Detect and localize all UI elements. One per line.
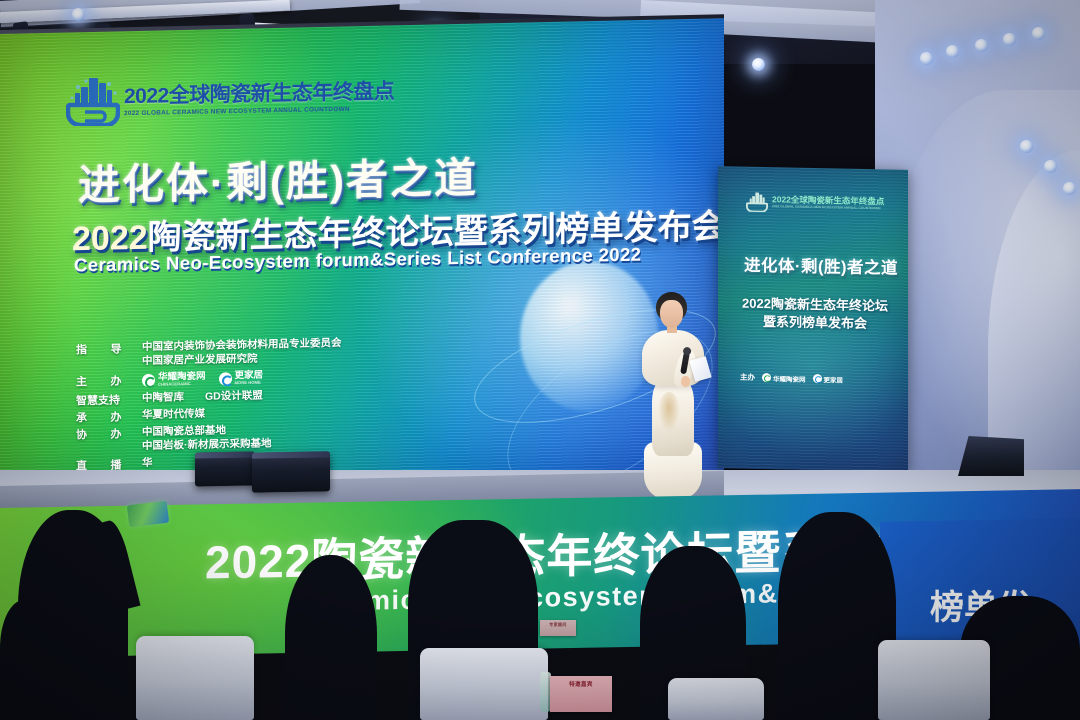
spotlight: [1032, 27, 1045, 40]
name-card: 专家顾问: [540, 620, 576, 636]
led-logo-title-cn: 2022全球陶瓷新生态年终盘点: [124, 82, 354, 108]
spotlight: [1044, 160, 1057, 173]
spotlight: [1003, 33, 1016, 46]
conference-photo-scene: 2022全球陶瓷新生态年终盘点 2022 GLOBAL CERAMICS NEW…: [0, 0, 1080, 720]
side-screen-subline-1: 2022陶瓷新生态年终论坛: [738, 295, 892, 316]
sponsor-name-cn: 华耀陶瓷网: [158, 372, 206, 382]
spotlight: [1063, 182, 1076, 195]
sponsor-name-cn: 更家居: [235, 371, 264, 381]
sponsor-logos: 华耀陶瓷网 CHINACERAMIC 更家居 MORE HOME: [142, 371, 263, 388]
credit-row: 协 办 中国陶瓷总部基地 中国岩板·新材展示采购基地: [76, 420, 416, 456]
host-gown-trim: [658, 392, 680, 432]
credit-label: 协 办: [76, 425, 142, 442]
host-hand: [681, 376, 690, 387]
sponsor-mark-icon: [219, 372, 232, 385]
sponsor-logo: 更家居 MORE HOME: [219, 371, 264, 387]
side-screen-logo-title-en: 2022 GLOBAL CERAMICS NEW ECOSYSTEM ANNUA…: [772, 205, 884, 210]
credit-value: 中陶智库 GD设计联盟: [142, 389, 263, 406]
wedge-monitor-speaker: [958, 436, 1024, 476]
stage-monitor-speaker: [252, 451, 330, 492]
sponsor-mark-icon: [142, 374, 155, 387]
audience-chair: [878, 640, 990, 720]
credit-label: 承 办: [76, 408, 142, 425]
spotlight: [975, 39, 988, 52]
audience-chair: [420, 648, 548, 720]
sponsor-name-cn: 华耀陶瓷网: [773, 373, 806, 384]
sponsor-mark-icon: [762, 373, 771, 382]
sponsor-mark-icon: [813, 374, 822, 383]
credit-values: 中国陶瓷总部基地 中国岩板·新材展示采购基地: [142, 422, 272, 454]
sponsor-logo: 华耀陶瓷网: [762, 373, 806, 384]
credit-label: 指 导: [76, 340, 142, 357]
sponsor-name-en: CHINACERAMIC: [158, 382, 206, 387]
credit-value: 华: [142, 456, 153, 471]
sponsor-name-cn: 更家居: [824, 374, 844, 384]
side-screen-sponsor-label: 主办: [740, 372, 755, 383]
credit-row: 指 导 中国室内装饰协会装饰材料用品专业委员会 中国家居产业发展研究院: [76, 335, 416, 371]
event-host: [626, 292, 718, 498]
audience-chair: [668, 678, 764, 720]
name-card: 特邀嘉宾: [550, 676, 612, 712]
sponsor-logo: 华耀陶瓷网 CHINACERAMIC: [142, 372, 206, 388]
host-face: [660, 300, 683, 328]
spotlight: [752, 58, 765, 71]
audience-chair: [136, 636, 254, 720]
led-logo-title: 2022全球陶瓷新生态年终盘点 2022 GLOBAL CERAMICS NEW…: [124, 82, 354, 117]
audience-silhouette: [0, 600, 60, 720]
spotlight: [72, 8, 85, 21]
credit-label: 主 办: [76, 372, 142, 389]
credit-values: 中国室内装饰协会装饰材料用品专业委员会 中国家居产业发展研究院: [142, 336, 342, 369]
side-screen-headline: 进化体·剩(胜)者之道: [744, 252, 886, 279]
building-skyline-logo: [66, 74, 120, 126]
building-skyline-logo: [746, 191, 768, 212]
side-screen-subline-2: 暨系列榜单发布会: [738, 313, 892, 334]
audience-silhouette: [285, 555, 377, 720]
spotlight: [946, 45, 959, 58]
name-card-text: 特邀嘉宾: [550, 680, 612, 688]
side-led-screen: 2022全球陶瓷新生态年终盘点 2022 GLOBAL CERAMICS NEW…: [718, 166, 908, 472]
credit-value: 中国家居产业发展研究院: [142, 351, 342, 369]
name-card-text: 专家顾问: [540, 622, 576, 628]
spotlight: [1020, 140, 1033, 153]
led-headline: 进化体·剩(胜)者之道: [78, 144, 478, 213]
sponsor-name-en: MORE HOME: [235, 381, 264, 386]
spotlight: [920, 52, 933, 65]
sponsor-logo: 更家居: [813, 373, 844, 384]
credit-label: 智慧支持: [76, 391, 142, 408]
side-screen-subline: 2022陶瓷新生态年终论坛 暨系列榜单发布会: [738, 295, 892, 335]
side-screen-logo-row: 2022全球陶瓷新生态年终盘点 2022 GLOBAL CERAMICS NEW…: [746, 191, 884, 215]
credit-value: 华夏时代传媒: [142, 407, 205, 423]
stage-monitor-speaker: [195, 451, 255, 486]
